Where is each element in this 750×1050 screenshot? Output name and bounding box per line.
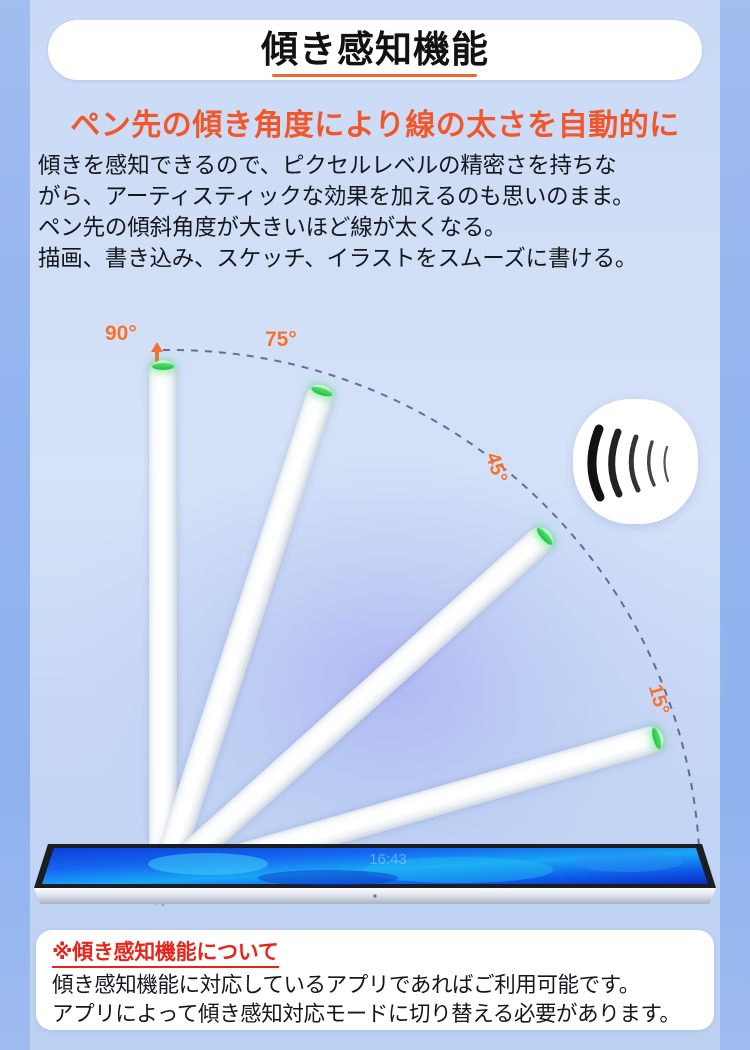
- notice-body: 傾き感知機能に対応しているアプリであればご利用可能です。 アプリによって傾き感知…: [52, 971, 698, 1029]
- stroke-thickness-inset-card: [573, 399, 698, 524]
- angle-label-90: 90°: [105, 322, 137, 346]
- notice-line-1: 傾き感知機能に対応しているアプリであればご利用可能です。: [52, 971, 698, 1000]
- pen-led-indicator: [650, 727, 663, 750]
- stroke-samples-icon: [573, 399, 698, 524]
- pen-led-indicator: [310, 385, 333, 398]
- title-card: 傾き感知機能: [48, 20, 702, 80]
- body-copy: 傾きを感知できるので、ピクセルレベルの精密さを持ちな がら、アーティスティックな…: [38, 150, 718, 274]
- notice-line-2: アプリによって傾き感知対応モードに切り替える必要があります。: [52, 1000, 698, 1029]
- body-line-4: 描画、書き込み、スケッチ、イラストをスムーズに書ける。: [38, 243, 718, 274]
- angle-label-75: 75°: [265, 328, 297, 352]
- title-underline: [272, 74, 477, 77]
- body-line-3: ペン先の傾斜角度が大きいほど線が太くなる。: [38, 212, 718, 243]
- pen-led-indicator: [152, 363, 174, 370]
- tilt-angle-diagram: 90° 75° 45° 15°: [0, 300, 750, 910]
- notice-heading: ※傾き感知機能について: [52, 940, 279, 968]
- product-feature-page: 傾き感知機能 ペン先の傾き角度により線の太さを自動的に 傾きを感知できるので、ピ…: [0, 0, 750, 1050]
- body-line-2: がら、アーティスティックな効果を加えるのも思いのまま。: [38, 181, 718, 212]
- body-line-1: 傾きを感知できるので、ピクセルレベルの精密さを持ちな: [38, 150, 718, 181]
- tablet-device: 16:43: [28, 838, 722, 916]
- page-title: 傾き感知機能: [261, 31, 489, 70]
- subtitle: ペン先の傾き角度により線の太さを自動的に: [0, 100, 750, 144]
- svg-text:16:43: 16:43: [369, 851, 407, 868]
- notice-card: ※傾き感知機能について 傾き感知機能に対応しているアプリであればご利用可能です。…: [36, 930, 714, 1030]
